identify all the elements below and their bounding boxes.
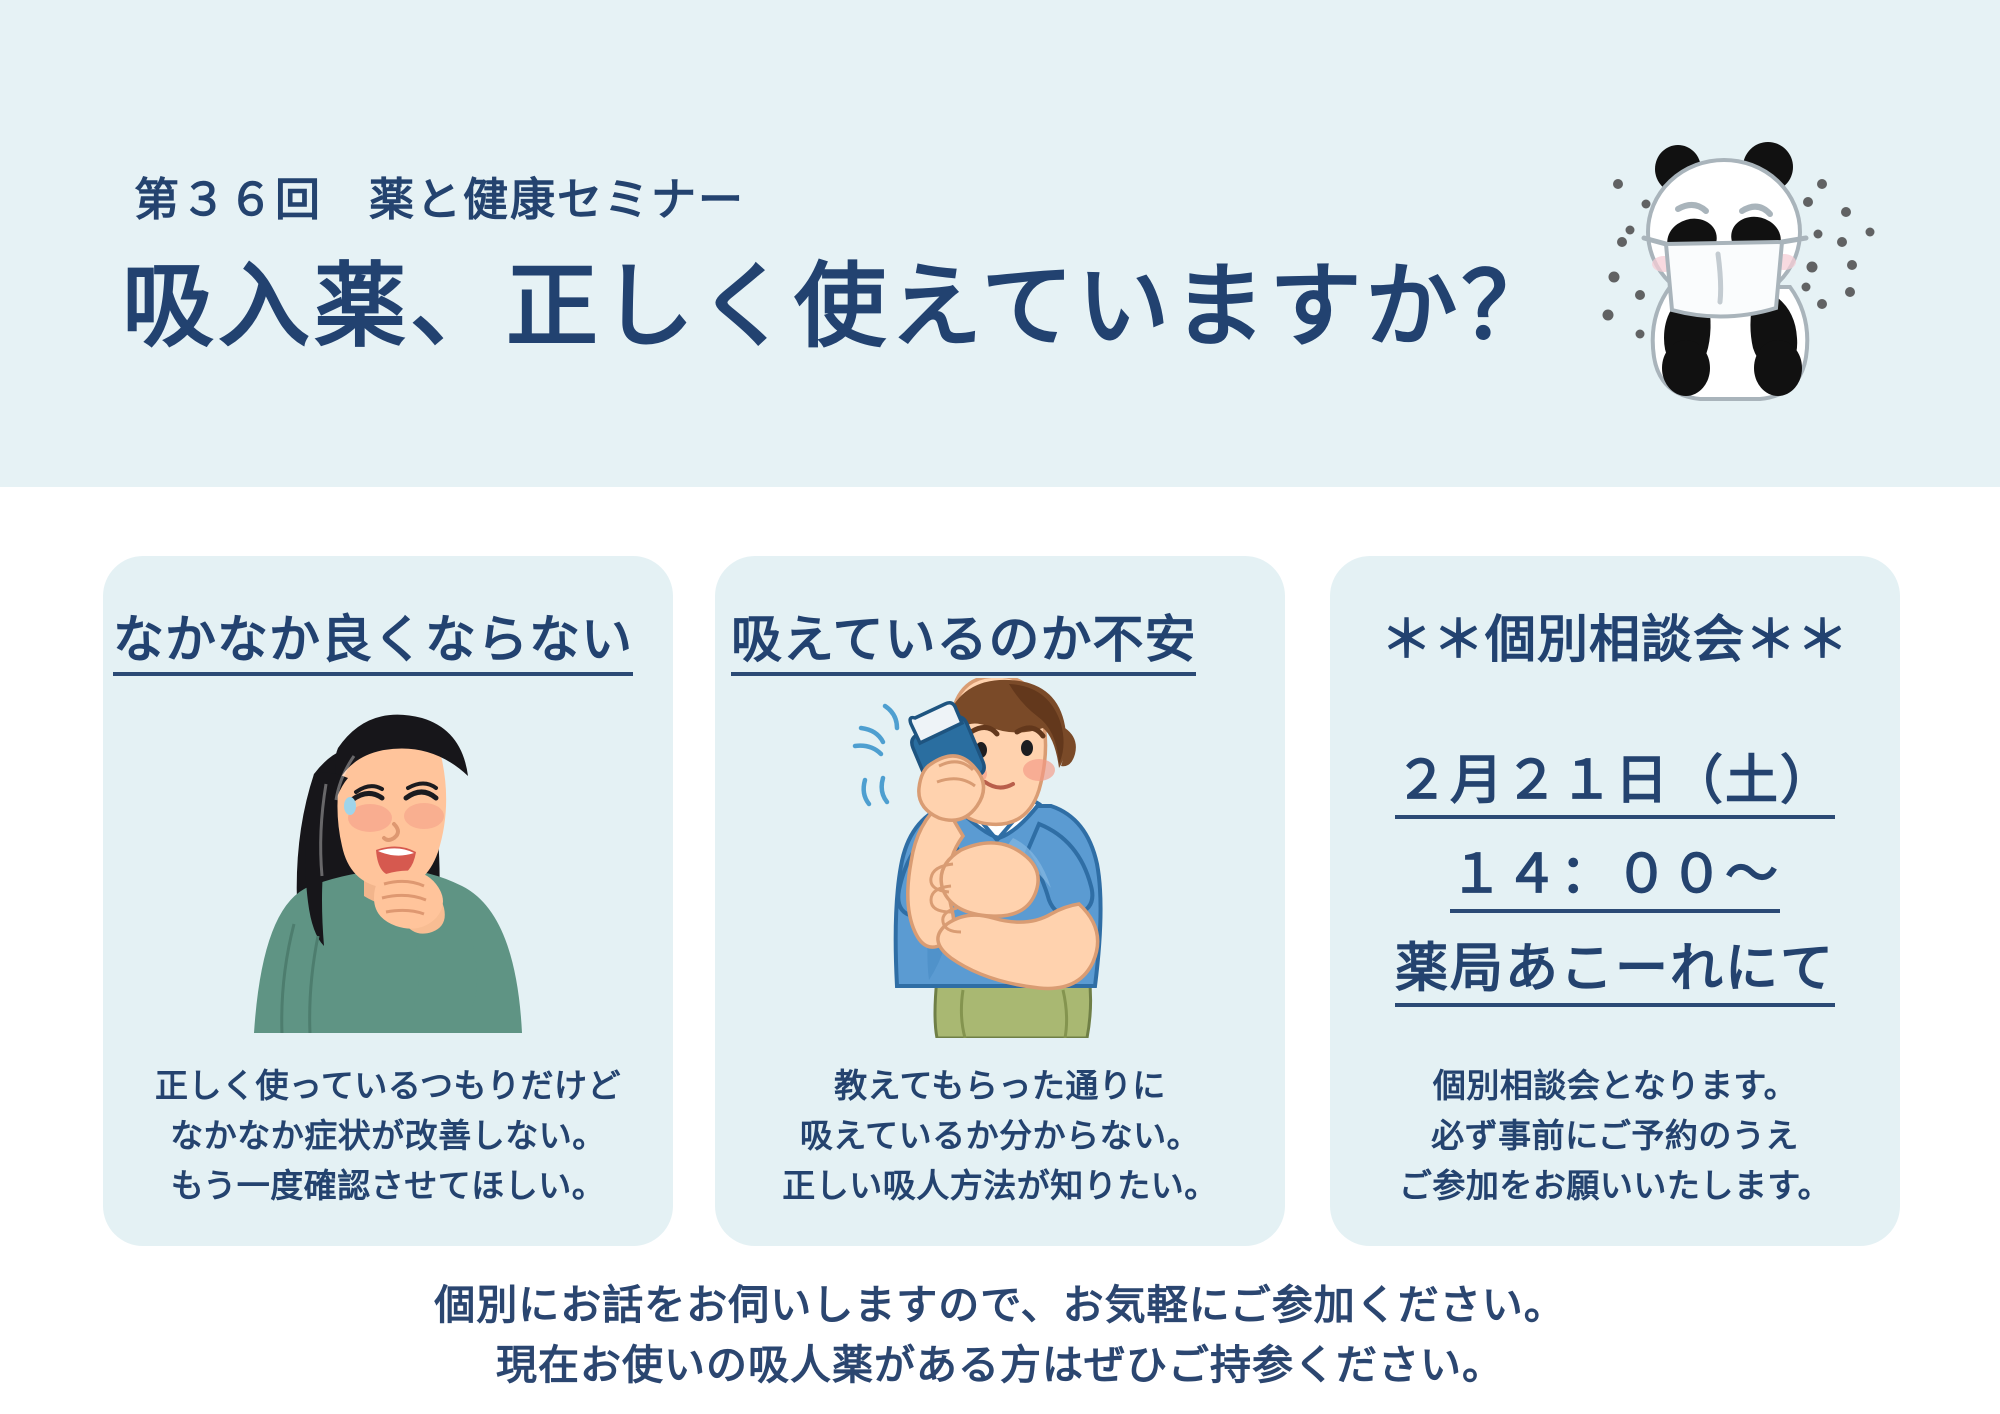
coughing-woman-illustration [103,688,673,1033]
man-using-inhaler-illustration [715,678,1285,1038]
caption-line: なかなか症状が改善しない。 [103,1111,673,1161]
caption-line: 正しい吸人方法が知りたい。 [715,1161,1285,1211]
caption-line: ご参加をお願いいたします。 [1330,1161,1900,1211]
card-caption: 個別相談会となります。 必ず事前にご予約のうえ ご参加をお願いいたします。 [1330,1061,1900,1211]
card-heading: ＊＊個別相談会＊＊ [1330,598,1900,672]
page-title: 吸入薬、正しく使えていますか？ [122,232,1557,365]
seminar-kicker: 第３６回 薬と健康セミナー [134,163,745,228]
footer-line: 現在お使いの吸人薬がある方はぜひご持参ください。 [0,1336,2000,1396]
card-consultation: ＊＊個別相談会＊＊ ２月２１日（土） １４：００～ 薬局あこーれにて 個別相談会… [1330,556,1900,1246]
card-heading: 吸えているのか不安 [715,598,1285,672]
caption-line: 吸えているか分からない。 [715,1111,1285,1161]
caption-line: 正しく使っているつもりだけど [103,1061,673,1111]
card-heading-text: ＊＊個別相談会＊＊ [1381,611,1849,668]
card-heading: なかなか良くならない [103,598,673,672]
caption-line: 個別相談会となります。 [1330,1061,1900,1111]
schedule-date-line: ２月２１日（土） [1330,738,1900,814]
schedule-venue-line: 薬局あこーれにて [1330,926,1900,1002]
caption-line: 教えてもらった通りに [715,1061,1285,1111]
caption-line: 必ず事前にご予約のうえ [1330,1111,1900,1161]
card-not-improving: なかなか良くならない [103,556,673,1246]
consultation-schedule: ２月２１日（土） １４：００～ 薬局あこーれにて [1330,738,1900,1020]
card-caption: 教えてもらった通りに 吸えているか分からない。 正しい吸人方法が知りたい。 [715,1061,1285,1211]
panda-with-face-mask-icon [1600,112,1900,402]
card-unsure-inhaling: 吸えているのか不安 [715,556,1285,1246]
caption-line: もう一度確認させてほしい。 [103,1161,673,1211]
card-heading-text: なかなか良くならない [113,611,633,676]
footer-line: 個別にお話をお伺いしますので、お気軽にご参加ください。 [0,1276,2000,1336]
header-band: 第３６回 薬と健康セミナー 吸入薬、正しく使えていますか？ [0,0,2000,487]
schedule-time-line: １４：００～ [1330,832,1900,908]
footer-note: 個別にお話をお伺いしますので、お気軽にご参加ください。 現在お使いの吸人薬がある… [0,1276,2000,1396]
card-heading-text: 吸えているのか不安 [731,611,1196,676]
cards-row: なかなか良くならない [0,556,2000,1256]
card-caption: 正しく使っているつもりだけど なかなか症状が改善しない。 もう一度確認させてほし… [103,1061,673,1211]
